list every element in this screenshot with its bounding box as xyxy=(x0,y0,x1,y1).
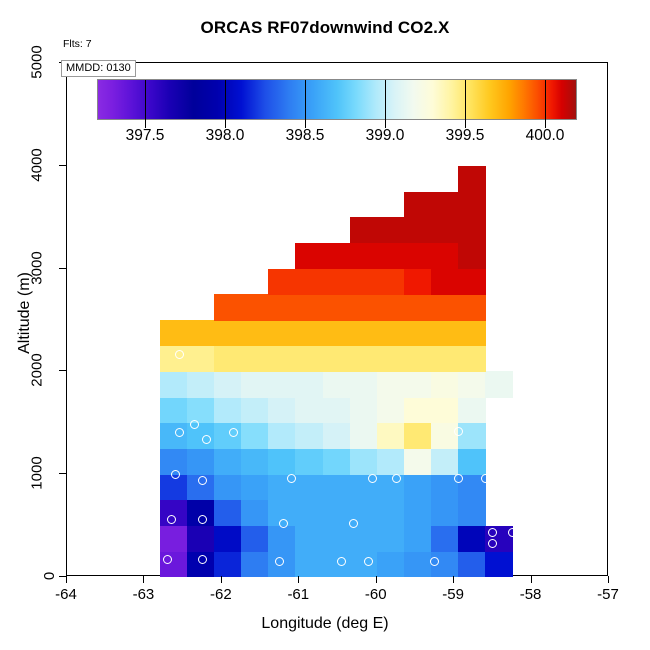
x-axis-tick-label: -61 xyxy=(268,586,328,603)
heatmap-cell xyxy=(214,294,242,320)
heatmap-cell xyxy=(295,474,323,500)
heatmap-cell xyxy=(458,294,486,320)
heatmap-cell xyxy=(431,320,459,346)
heatmap-cell xyxy=(377,269,405,295)
sample-marker xyxy=(492,264,501,273)
heatmap-cell xyxy=(404,423,432,449)
heatmap-cell xyxy=(241,551,269,577)
heatmap-cell xyxy=(323,346,351,372)
page-title: ORCAS RF07downwind CO2.X xyxy=(0,18,650,38)
heatmap-cell xyxy=(377,397,405,423)
x-axis-tick xyxy=(143,576,144,583)
heatmap-cell xyxy=(160,423,188,449)
y-axis-tick-label: 1000 xyxy=(0,443,54,503)
heatmap-cell xyxy=(160,346,188,372)
heatmap-cell xyxy=(350,269,378,295)
x-axis-tick xyxy=(298,576,299,583)
x-axis-tick xyxy=(453,576,454,583)
heatmap-cell xyxy=(160,397,188,423)
heatmap-cell xyxy=(431,192,459,218)
heatmap-cell xyxy=(350,346,378,372)
colorbar-gradient xyxy=(97,79,577,120)
colorbar-tick xyxy=(465,80,466,128)
heatmap-cell xyxy=(458,269,486,295)
heatmap-cell xyxy=(404,371,432,397)
heatmap-cell xyxy=(295,294,323,320)
heatmap-cell xyxy=(323,500,351,526)
sample-marker xyxy=(488,539,497,548)
heatmap-cell xyxy=(377,371,405,397)
x-axis-tick xyxy=(608,576,609,583)
colorbar-tick xyxy=(545,80,546,128)
sample-marker xyxy=(287,474,296,483)
heatmap-cell xyxy=(458,423,486,449)
heatmap-cell xyxy=(214,449,242,475)
colorbar-tick-label: 399.0 xyxy=(350,127,420,145)
heatmap-cell xyxy=(431,269,459,295)
heatmap-cell xyxy=(404,243,432,269)
heatmap-cell xyxy=(295,500,323,526)
heatmap-cell xyxy=(458,346,486,372)
heatmap-cell xyxy=(241,346,269,372)
heatmap-cell xyxy=(404,294,432,320)
heatmap-cell xyxy=(323,320,351,346)
colorbar-tick-label: 397.5 xyxy=(110,127,180,145)
heatmap-cell xyxy=(458,371,486,397)
heatmap-cell xyxy=(350,397,378,423)
y-axis-tick-label: 0 xyxy=(0,546,54,606)
heatmap-cell xyxy=(485,371,513,397)
sample-marker xyxy=(454,427,463,436)
sample-marker xyxy=(171,470,180,479)
heatmap-cell xyxy=(458,526,486,552)
date-annotation: MMDD: 0130 xyxy=(61,60,136,77)
heatmap-cell xyxy=(241,320,269,346)
heatmap-cell xyxy=(350,294,378,320)
heatmap-cell xyxy=(404,449,432,475)
heatmap-cell xyxy=(214,500,242,526)
sample-marker xyxy=(488,424,497,433)
heatmap-cell xyxy=(268,346,296,372)
heatmap-cell xyxy=(485,551,513,577)
heatmap-cell xyxy=(350,551,378,577)
heatmap-cell xyxy=(377,500,405,526)
heatmap-cell xyxy=(295,320,323,346)
heatmap-cell xyxy=(214,526,242,552)
x-axis-tick-label: -57 xyxy=(578,586,638,603)
heatmap-cell xyxy=(295,526,323,552)
x-axis-tick xyxy=(221,576,222,583)
heatmap-cell xyxy=(323,269,351,295)
heatmap-cell xyxy=(350,217,378,243)
heatmap-cell xyxy=(295,243,323,269)
y-axis-tick-label: 5000 xyxy=(0,32,54,92)
heatmap-cell xyxy=(404,551,432,577)
heatmap-cell xyxy=(241,500,269,526)
heatmap-cell xyxy=(214,371,242,397)
colorbar-tick xyxy=(385,80,386,128)
heatmap-cell xyxy=(241,294,269,320)
sample-marker xyxy=(229,428,238,437)
heatmap-cell xyxy=(295,346,323,372)
x-axis-tick-label: -60 xyxy=(346,586,406,603)
heatmap-cell xyxy=(187,371,215,397)
heatmap-cell xyxy=(295,423,323,449)
heatmap-cell xyxy=(323,474,351,500)
heatmap-cell xyxy=(458,397,486,423)
heatmap-cell xyxy=(241,371,269,397)
heatmap-cell xyxy=(458,217,486,243)
heatmap-cell xyxy=(323,243,351,269)
heatmap-cell xyxy=(404,269,432,295)
x-axis-title: Longitude (deg E) xyxy=(0,615,650,633)
heatmap-cell xyxy=(295,371,323,397)
heatmap-cell xyxy=(268,526,296,552)
sample-marker xyxy=(175,428,184,437)
heatmap-cell xyxy=(350,526,378,552)
heatmap-cell xyxy=(241,397,269,423)
heatmap-cell xyxy=(268,423,296,449)
heatmap-cell xyxy=(431,423,459,449)
heatmap-cell xyxy=(350,320,378,346)
heatmap-cell xyxy=(323,294,351,320)
heatmap-cell xyxy=(404,526,432,552)
heatmap-cell xyxy=(458,192,486,218)
heatmap-cell xyxy=(431,294,459,320)
sample-marker xyxy=(198,555,207,564)
heatmap-cell xyxy=(323,397,351,423)
heatmap-cell xyxy=(458,551,486,577)
heatmap-cell xyxy=(187,449,215,475)
heatmap-cell xyxy=(458,449,486,475)
colorbar-tick-label: 398.5 xyxy=(270,127,340,145)
heatmap-cell xyxy=(214,320,242,346)
heatmap-cell xyxy=(323,371,351,397)
heatmap-cell xyxy=(377,526,405,552)
heatmap-cell xyxy=(214,346,242,372)
heatmap-cell xyxy=(350,423,378,449)
heatmap-cell xyxy=(214,423,242,449)
heatmap-cell xyxy=(404,346,432,372)
heatmap-cell xyxy=(295,397,323,423)
heatmap-cell xyxy=(404,397,432,423)
y-axis-tick-label: 4000 xyxy=(0,135,54,195)
heatmap-cell xyxy=(404,500,432,526)
sample-marker xyxy=(481,474,490,483)
heatmap-cell xyxy=(377,551,405,577)
heatmap-cell xyxy=(187,320,215,346)
heatmap-cell xyxy=(431,526,459,552)
heatmap-cell xyxy=(377,294,405,320)
heatmap-cell xyxy=(458,166,486,192)
heatmap-cell xyxy=(404,217,432,243)
sample-marker xyxy=(198,515,207,524)
heatmap-cell xyxy=(187,397,215,423)
heatmap-cell xyxy=(458,320,486,346)
heatmap-cell xyxy=(377,423,405,449)
x-axis-tick xyxy=(531,576,532,583)
heatmap-cell xyxy=(458,500,486,526)
colorbar-tick-label: 399.5 xyxy=(430,127,500,145)
heatmap-cell xyxy=(377,346,405,372)
heatmap-cell xyxy=(241,449,269,475)
heatmap-cell xyxy=(431,346,459,372)
heatmap-cell xyxy=(295,269,323,295)
heatmap-cell xyxy=(377,320,405,346)
heatmap-cell xyxy=(187,526,215,552)
colorbar-tick-label: 400.0 xyxy=(510,127,580,145)
sample-marker xyxy=(349,519,358,528)
heatmap-cell xyxy=(323,423,351,449)
colorbar-tick xyxy=(145,80,146,128)
heatmap-cell xyxy=(431,449,459,475)
colorbar-tick xyxy=(305,80,306,128)
sample-marker xyxy=(392,474,401,483)
heatmap-cell xyxy=(377,243,405,269)
heatmap-cell xyxy=(268,269,296,295)
heatmap-cell xyxy=(160,526,188,552)
heatmap-cell xyxy=(323,449,351,475)
sample-marker xyxy=(488,165,497,174)
heatmap-cell xyxy=(404,474,432,500)
heatmap-cell xyxy=(268,371,296,397)
heatmap-cell xyxy=(404,192,432,218)
heatmap-cell xyxy=(268,449,296,475)
figure-canvas: ORCAS RF07downwind CO2.X Flts: 7 MMDD: 0… xyxy=(0,0,650,650)
x-axis-tick xyxy=(376,576,377,583)
heatmap-cell xyxy=(377,449,405,475)
heatmap-cell xyxy=(404,320,432,346)
colorbar-tick-label: 398.0 xyxy=(190,127,260,145)
sample-marker xyxy=(454,474,463,483)
x-axis-tick-label: -59 xyxy=(423,586,483,603)
heatmap-cell xyxy=(431,371,459,397)
heatmap-cell xyxy=(187,346,215,372)
x-axis-tick-label: -63 xyxy=(113,586,173,603)
heatmap-cell xyxy=(431,243,459,269)
heatmap-cell xyxy=(323,551,351,577)
heatmap-cell xyxy=(241,423,269,449)
heatmap-cell xyxy=(268,294,296,320)
sample-marker xyxy=(337,557,346,566)
heatmap-cell xyxy=(241,526,269,552)
heatmap-cell xyxy=(431,217,459,243)
x-axis-tick-label: -62 xyxy=(191,586,251,603)
sample-marker xyxy=(430,557,439,566)
heatmap-cell xyxy=(350,371,378,397)
heatmap-cell xyxy=(268,397,296,423)
heatmap-cell xyxy=(241,474,269,500)
heatmap-cell xyxy=(268,320,296,346)
heatmap-cell xyxy=(214,551,242,577)
heatmap-cell xyxy=(160,371,188,397)
heatmap-cell xyxy=(350,243,378,269)
x-axis-tick-label: -58 xyxy=(501,586,561,603)
heatmap-cell xyxy=(214,474,242,500)
colorbar[interactable]: 397.5398.0398.5399.0399.5400.0 xyxy=(97,79,577,120)
y-axis-title: Altitude (m) xyxy=(16,193,34,433)
heatmap-cell xyxy=(323,526,351,552)
heatmap-cell xyxy=(458,243,486,269)
heatmap-cell xyxy=(214,397,242,423)
heatmap-cell xyxy=(377,217,405,243)
colorbar-tick xyxy=(225,80,226,128)
heatmap-cell xyxy=(431,500,459,526)
heatmap-cell xyxy=(295,449,323,475)
sample-marker xyxy=(198,476,207,485)
heatmap-cell xyxy=(160,320,188,346)
sample-marker xyxy=(202,435,211,444)
heatmap-cell xyxy=(431,397,459,423)
sample-marker xyxy=(167,515,176,524)
heatmap-cell xyxy=(350,449,378,475)
sample-marker xyxy=(508,528,517,537)
sample-marker xyxy=(500,474,509,483)
heatmap-cell xyxy=(295,551,323,577)
